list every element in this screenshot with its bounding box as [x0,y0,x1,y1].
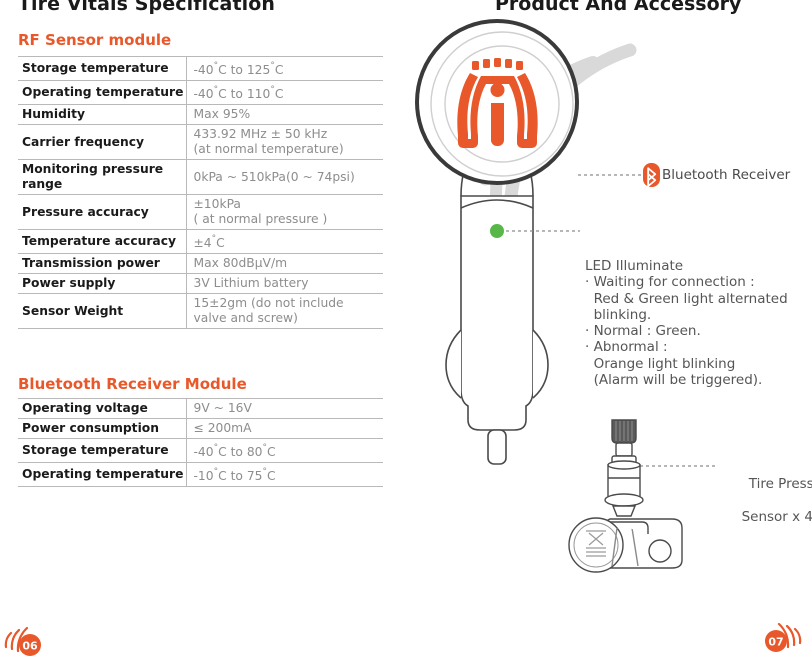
spec-value: ±10kPa( at normal pressure ) [186,195,383,230]
page-number-right: 07 [754,620,806,658]
spec-table-rf-sensor: Storage temperature-40°C to 125°COperati… [18,56,383,329]
table-row: Storage temperature-40°C to 80°C [18,439,383,463]
spec-value-line1: ≤ 200mA [194,421,252,435]
spec-table-bluetooth-receiver: Operating voltage9V ~ 16VPower consumpti… [18,398,383,487]
spec-value-line1: 15±2gm (do not include [194,296,344,310]
spec-value-line2: ( at normal pressure ) [194,212,384,227]
spec-value: 0kPa ~ 510kPa(0 ~ 74psi) [186,160,383,195]
spec-value: 3V Lithium battery [186,274,383,294]
spec-value: -10°C to 75°C [186,463,383,487]
spec-key: Storage temperature [18,439,186,463]
table-row: Power consumption≤ 200mA [18,419,383,439]
table-row: Transmission powerMax 80dBμV/m [18,254,383,274]
spec-key: Pressure accuracy [18,195,186,230]
spec-value: -40°C to 80°C [186,439,383,463]
section-heading-rf-sensor: RF Sensor module [18,31,171,49]
spec-value-line1: 433.92 MHz ± 50 kHz [194,127,328,141]
spec-key: Operating voltage [18,399,186,419]
left-column: Tire Vitals Specification RF Sensor modu… [0,0,400,672]
table-row: Storage temperature-40°C to 125°C [18,57,383,81]
right-column: Product And Accessory [410,0,812,672]
tpms-device-body [446,152,548,464]
table-row: Carrier frequency433.92 MHz ± 50 kHz(at … [18,125,383,160]
spec-value-line1: -40°C to 80°C [194,445,276,459]
spec-key: Monitoring pressure range [18,160,186,195]
spec-value-line1: -40°C to 110°C [194,87,284,101]
table-row: Temperature accuracy±4°C [18,230,383,254]
spec-value: -40°C to 110°C [186,81,383,105]
bluetooth-icon [643,163,660,187]
spec-key: Sensor Weight [18,294,186,329]
spec-value: 433.92 MHz ± 50 kHz(at normal temperatur… [186,125,383,160]
spec-value: ≤ 200mA [186,419,383,439]
spec-value-line1: ±4°C [194,236,225,250]
spec-value-line1: Max 80dBμV/m [194,256,288,270]
spec-value-line1: ±10kPa [194,197,241,211]
table-row: Power supply3V Lithium battery [18,274,383,294]
spec-value-line1: 0kPa ~ 510kPa(0 ~ 74psi) [194,170,355,184]
spec-key: Operating temperature [18,81,186,105]
spec-key: Humidity [18,105,186,125]
spec-sheet-page: Tire Vitals Specification RF Sensor modu… [0,0,812,672]
tpms-device-head [417,21,577,183]
table-row: Monitoring pressure range0kPa ~ 510kPa(0… [18,160,383,195]
table-row: Operating temperature-40°C to 110°C [18,81,383,105]
callout-sensor-line2: Sensor x 4 [723,509,812,525]
spec-value: -40°C to 125°C [186,57,383,81]
spec-key: Storage temperature [18,57,186,81]
table-row: Operating voltage9V ~ 16V [18,399,383,419]
callout-led-illuminate: LED Illuminate · Waiting for connection … [585,258,788,388]
callout-bluetooth-receiver: Bluetooth Receiver [662,167,790,183]
spec-value-line1: 3V Lithium battery [194,276,309,290]
table-row: Operating temperature-10°C to 75°C [18,463,383,487]
spec-key: Operating temperature [18,463,186,487]
table-row: HumidityMax 95% [18,105,383,125]
spec-value-line1: 9V ~ 16V [194,401,252,415]
table-row: Sensor Weight15±2gm (do not include valv… [18,294,383,329]
callout-sensor-line1: Tire Pressure [749,476,812,492]
table-row: Pressure accuracy±10kPa( at normal press… [18,195,383,230]
spec-key: Carrier frequency [18,125,186,160]
spec-value: 15±2gm (do not include valve and screw) [186,294,383,329]
spec-value: ±4°C [186,230,383,254]
spec-value-line2: (at normal temperature) [194,142,384,157]
spec-value: Max 95% [186,105,383,125]
spec-key: Power consumption [18,419,186,439]
spec-value-line1: Max 95% [194,107,251,121]
spec-value-line2: valve and screw) [194,311,384,326]
tire-pressure-sensor-illustration [569,420,682,572]
spec-value: 9V ~ 16V [186,399,383,419]
spec-value: Max 80dBμV/m [186,254,383,274]
led-indicator-dot [490,224,504,238]
page-number-left: 06 [0,624,52,662]
spec-value-line1: -10°C to 75°C [194,469,276,483]
spec-key: Power supply [18,274,186,294]
page-number-right-text: 07 [768,636,783,649]
spec-key: Temperature accuracy [18,230,186,254]
callout-tire-pressure-sensor: Tire Pressure Sensor x 4 [723,460,812,558]
section-heading-bluetooth-receiver: Bluetooth Receiver Module [18,375,247,393]
spec-key: Transmission power [18,254,186,274]
page-title: Tire Vitals Specification [18,0,275,15]
page-number-left-text: 06 [22,640,38,653]
spec-value-line1: -40°C to 125°C [194,63,284,77]
